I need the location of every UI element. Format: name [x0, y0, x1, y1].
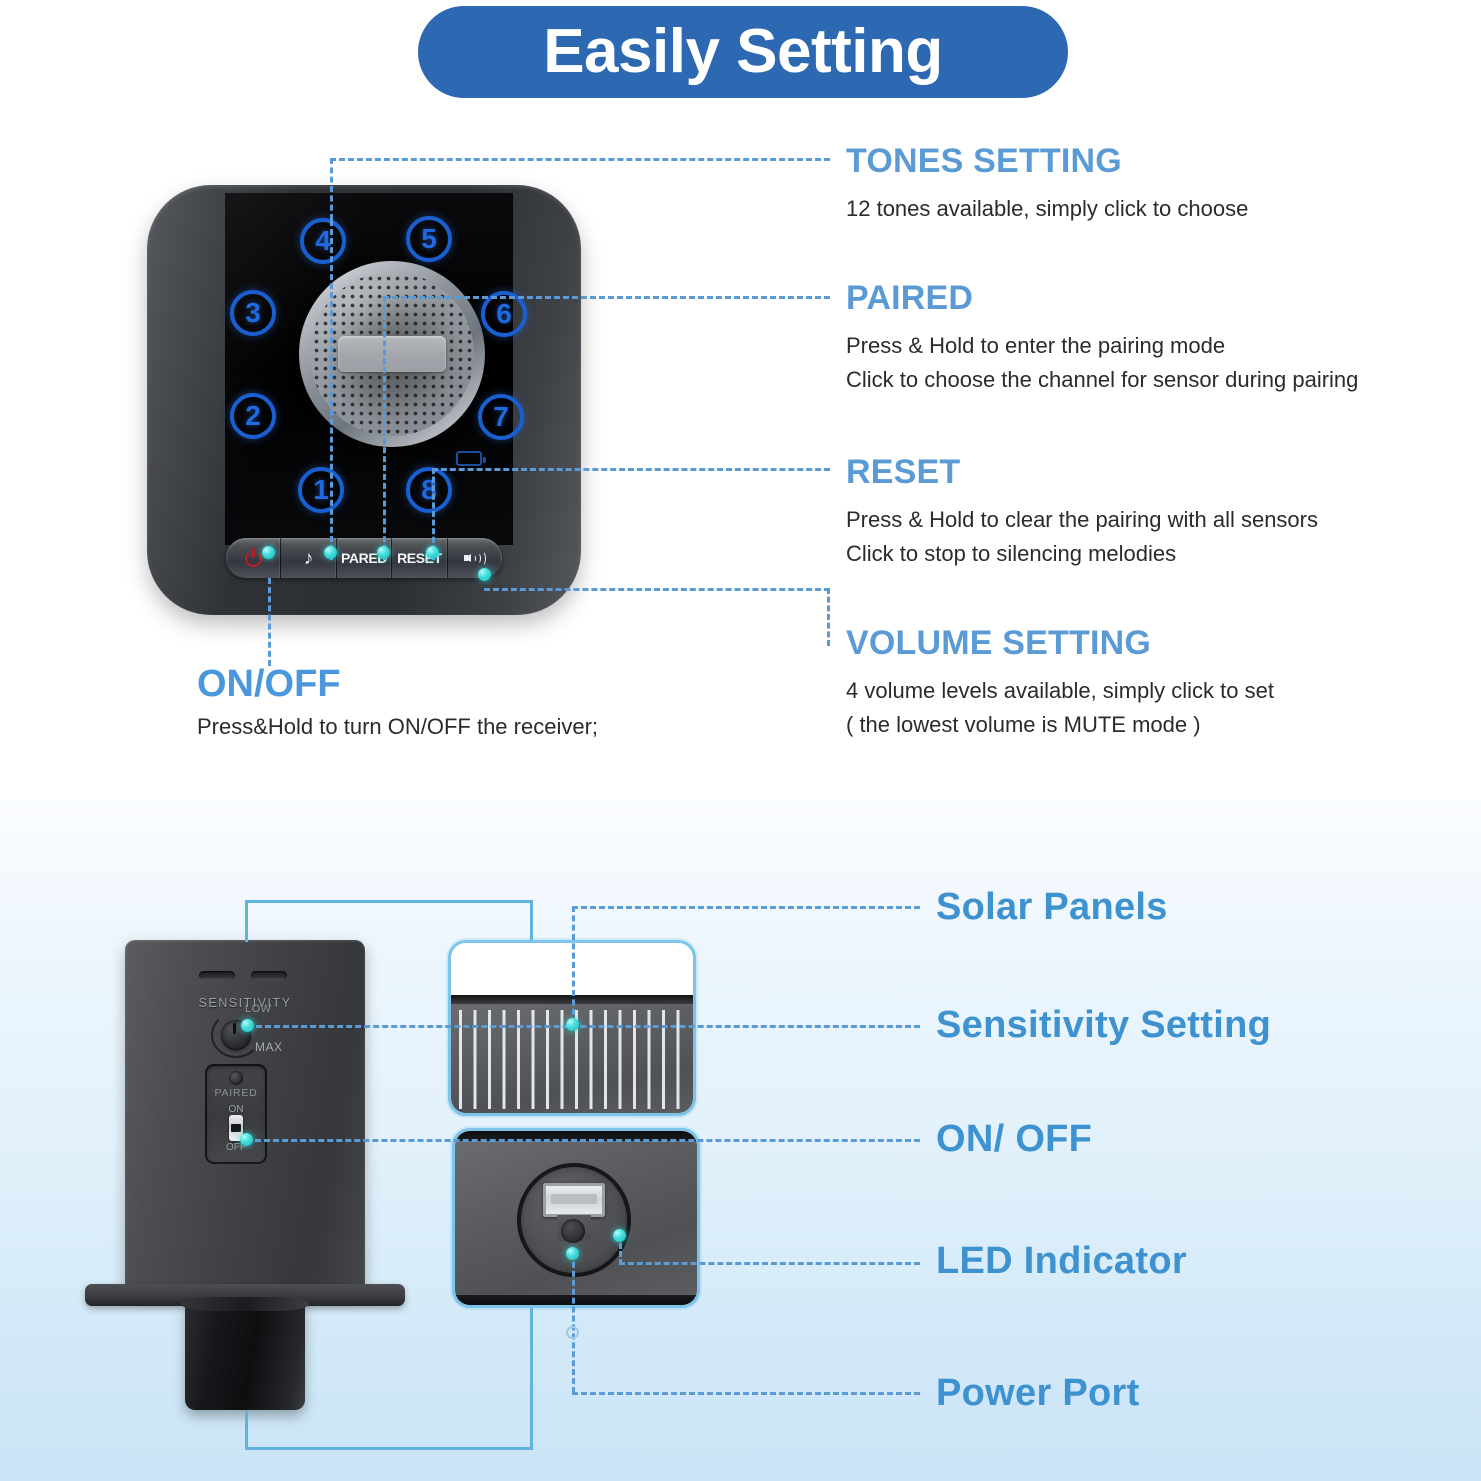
feature-onoff: ON/OFF Press&Hold to turn ON/OFF the rec… [197, 665, 598, 744]
anchor-dot-sensitivity [241, 1019, 254, 1032]
feature-volume-title: VOLUME SETTING [846, 626, 1274, 662]
callout-number-4: 4 [300, 218, 346, 264]
feature-volume-line-2: ( the lowest volume is MUTE mode ) [846, 708, 1274, 742]
connector-node-circle [566, 1326, 579, 1339]
anchor-dot-volume [478, 568, 491, 581]
anchor-dot-led [613, 1229, 626, 1242]
feature-volume: VOLUME SETTING 4 volume levels available… [846, 626, 1274, 742]
connector-solar-stem [572, 906, 575, 1024]
callout-number-5: 5 [406, 216, 452, 262]
bracket-bottom-right [530, 1308, 533, 1450]
vent-slot-right [251, 971, 287, 980]
power-icon [245, 550, 262, 567]
volume-button[interactable] [448, 538, 502, 578]
connector-paired [383, 296, 830, 299]
feature-reset-title: RESET [846, 455, 1318, 491]
connector-sensitivity [247, 1025, 920, 1028]
feature-tones-title: TONES SETTING [846, 144, 1248, 180]
connector-paired-stem [383, 296, 386, 560]
feature-tones-line-1: 12 tones available, simply click to choo… [846, 192, 1248, 226]
label-led-indicator: LED Indicator [936, 1242, 1187, 1280]
bracket-top-right [530, 900, 533, 940]
callout-number-2: 2 [230, 393, 276, 439]
anchor-dot-power-port [566, 1247, 579, 1260]
usb-port-icon [543, 1183, 605, 1217]
switch-off-label: OFF [205, 1142, 267, 1153]
anchor-dot-tone [324, 546, 337, 559]
connector-volume [484, 588, 830, 646]
vent-slot-left [199, 971, 235, 980]
usb-inset-bottom-edge [455, 1295, 697, 1305]
bracket-top-horizontal [245, 900, 533, 903]
feature-reset-line-2: Click to stop to silencing melodies [846, 537, 1318, 571]
paired-led-icon [229, 1071, 243, 1085]
anchor-dot-paired [377, 546, 390, 559]
feature-onoff-line: Press&Hold to turn ON/OFF the receiver; [197, 709, 598, 744]
callout-number-3: 3 [230, 290, 276, 336]
feature-paired-line-1: Press & Hold to enter the pairing mode [846, 329, 1358, 363]
label-on-off: ON/ OFF [936, 1120, 1092, 1158]
bracket-top-left [245, 900, 248, 942]
connector-onoff-sensor [246, 1139, 920, 1142]
feature-paired-title: PAIRED [846, 281, 1358, 317]
anchor-dot-power [262, 546, 275, 559]
feature-paired: PAIRED Press & Hold to enter the pairing… [846, 281, 1358, 397]
paired-label: PAIRED [205, 1087, 267, 1099]
infographic-page: Easily Setting 1 2 3 4 5 [0, 0, 1481, 1481]
callout-number-7: 7 [478, 394, 524, 440]
battery-icon [456, 451, 482, 466]
title-banner: Easily Setting [418, 6, 1068, 98]
led-indicator-icon [561, 1219, 585, 1243]
anchor-dot-onoff [240, 1133, 253, 1146]
connector-reset [432, 468, 830, 471]
connector-tones [330, 158, 830, 220]
bracket-bottom-left [245, 1410, 248, 1450]
sensor-barrel [185, 1302, 305, 1410]
connector-power [572, 1392, 920, 1395]
usb-inset-body [455, 1141, 697, 1295]
feature-onoff-title: ON/OFF [197, 665, 598, 705]
reset-button[interactable]: RESET [392, 538, 447, 578]
power-button[interactable] [226, 538, 281, 578]
callout-number-1: 1 [298, 467, 344, 513]
power-port-inset [452, 1128, 700, 1308]
sensor-faceplate: SENSITIVITY LOW MAX PAIRED ON OFF [125, 940, 365, 1292]
bracket-bottom-horizontal [245, 1447, 533, 1450]
low-label: LOW [245, 1003, 272, 1015]
switch-on-label: ON [205, 1104, 267, 1115]
feature-reset-line-1: Press & Hold to clear the pairing with a… [846, 503, 1318, 537]
receiver-panel: Easily Setting 1 2 3 4 5 [0, 0, 1481, 800]
speaker-grille [299, 261, 485, 447]
music-note-icon: ♪ [304, 549, 314, 568]
label-power-port: Power Port [936, 1374, 1140, 1412]
feature-paired-line-2: Click to choose the channel for sensor d… [846, 363, 1358, 397]
connector-led [619, 1262, 920, 1265]
connector-tones-stem [330, 220, 333, 560]
anchor-dot-solar [566, 1018, 579, 1031]
connector-onoff [268, 578, 271, 666]
max-label: MAX [255, 1040, 283, 1054]
feature-tones: TONES SETTING 12 tones available, simply… [846, 144, 1248, 226]
connector-power-stem [572, 1253, 575, 1393]
feature-reset: RESET Press & Hold to clear the pairing … [846, 455, 1318, 571]
display-window [338, 336, 446, 372]
callout-number-8: 8 [406, 467, 452, 513]
connector-solar [572, 906, 920, 909]
label-solar-panels: Solar Panels [936, 888, 1168, 926]
sensor-panel: SENSITIVITY LOW MAX PAIRED ON OFF [0, 800, 1481, 1481]
feature-volume-line-1: 4 volume levels available, simply click … [846, 674, 1274, 708]
anchor-dot-reset [426, 546, 439, 559]
switch-recess: PAIRED ON OFF [205, 1064, 267, 1164]
banner-title: Easily Setting [543, 21, 943, 83]
sensor-device: SENSITIVITY LOW MAX PAIRED ON OFF [85, 940, 405, 1440]
label-sensitivity-setting: Sensitivity Setting [936, 1006, 1271, 1044]
speaker-volume-icon [464, 550, 486, 566]
